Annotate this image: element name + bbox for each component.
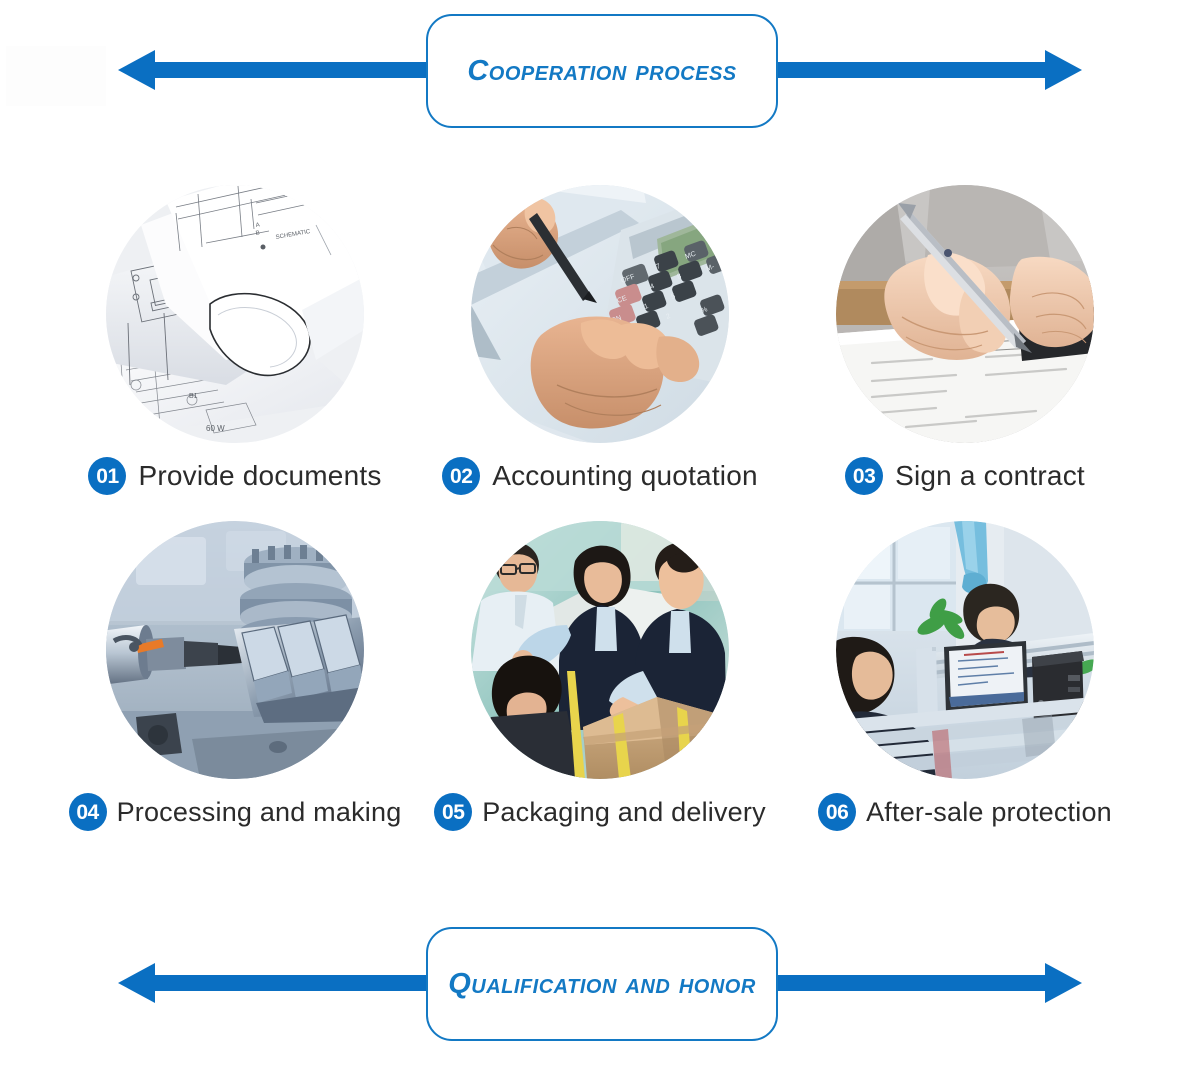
step-badge-01: 01 (88, 457, 126, 495)
step-label-04: Processing and making (117, 797, 402, 828)
svg-text:B1: B1 (189, 393, 198, 400)
step-label-06: After-sale protection (866, 797, 1112, 828)
packaging-workers-photo (471, 521, 729, 779)
step-card-05[interactable]: 05 Packaging and delivery (425, 521, 775, 831)
step-label-02: Accounting quotation (492, 460, 758, 492)
step-badge-04: 04 (69, 793, 107, 831)
step-badge-02: 02 (442, 457, 480, 495)
step-label-03: Sign a contract (895, 460, 1085, 492)
bottom-banner-title: Qualification and honor (448, 968, 756, 1001)
svg-text:MR: MR (712, 243, 725, 253)
svg-text:4545: 4545 (674, 185, 729, 202)
step-caption-05: 05 Packaging and delivery (434, 793, 766, 831)
step-badge-05: 05 (434, 793, 472, 831)
step-label-05: Packaging and delivery (482, 797, 766, 828)
step-caption-02: 02 Accounting quotation (442, 457, 758, 495)
step-label-01: Provide documents (138, 460, 381, 492)
top-banner: Cooperation process (0, 0, 1200, 140)
office-support-photo (836, 521, 1094, 779)
step-card-03[interactable]: 03 Sign a contract (790, 185, 1140, 495)
svg-text:60 W: 60 W (206, 424, 225, 433)
signing-contract-photo (836, 185, 1094, 443)
step-caption-03: 03 Sign a contract (845, 457, 1085, 495)
step-row-2: 04 Processing and making (0, 521, 1200, 831)
step-row-1: 60 W B1 (0, 185, 1200, 495)
cnc-machining-photo (106, 521, 364, 779)
calculator-hands-photo: 4545 (471, 185, 729, 443)
step-card-06[interactable]: 06 After-sale protection (790, 521, 1140, 831)
step-card-04[interactable]: 04 Processing and making (60, 521, 410, 831)
top-banner-title: Cooperation process (467, 55, 736, 88)
step-badge-03: 03 (845, 457, 883, 495)
top-banner-box: Cooperation process (426, 14, 778, 128)
bottom-banner-box: Qualification and honor (426, 927, 778, 1041)
step-caption-06: 06 After-sale protection (818, 793, 1112, 831)
step-badge-06: 06 (818, 793, 856, 831)
step-caption-01: 01 Provide documents (88, 457, 381, 495)
step-card-02[interactable]: 4545 (425, 185, 775, 495)
bottom-banner: Qualification and honor (0, 927, 1200, 1067)
section-spacer (0, 857, 1200, 927)
rolled-blueprints-photo: 60 W B1 (106, 185, 364, 443)
step-caption-04: 04 Processing and making (69, 793, 402, 831)
step-card-01[interactable]: 60 W B1 (60, 185, 410, 495)
process-steps: 60 W B1 (0, 140, 1200, 831)
